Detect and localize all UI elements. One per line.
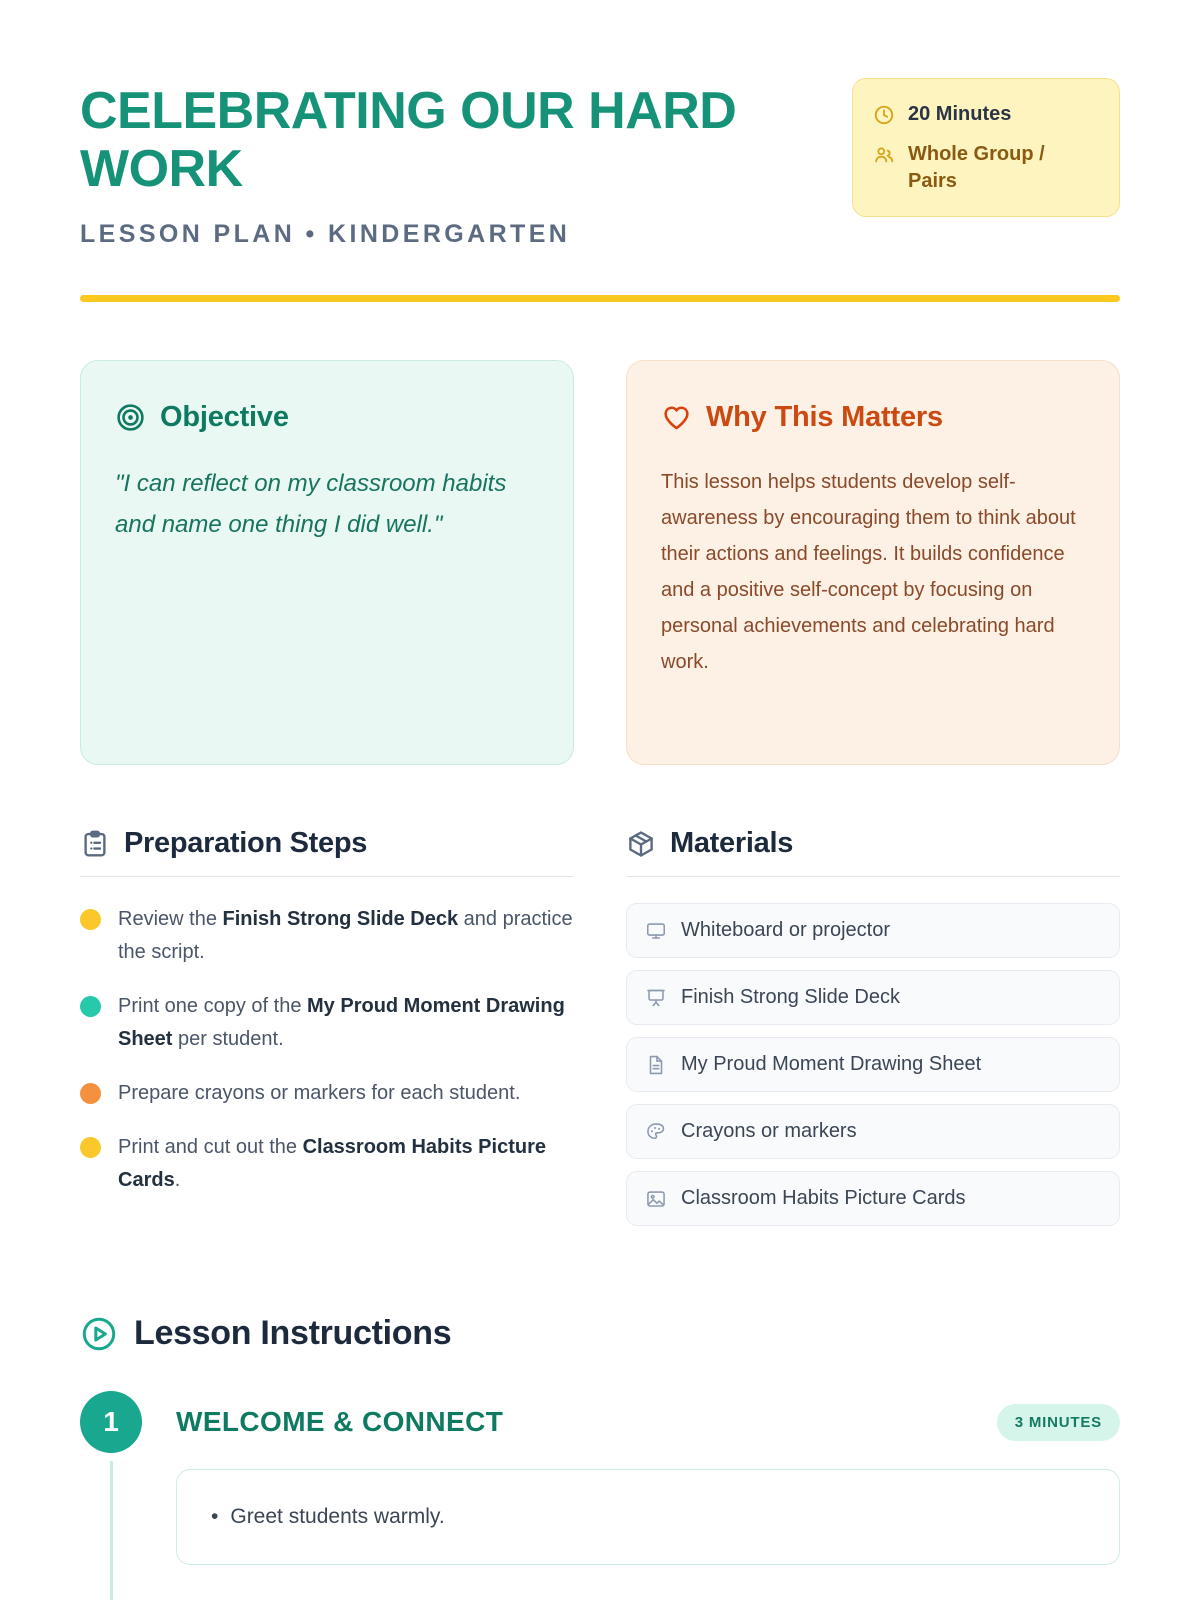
step-bullet-item: •Greet students warmly. bbox=[211, 1500, 1085, 1534]
why-card-header: Why This Matters bbox=[661, 401, 1085, 434]
material-item: Whiteboard or projector bbox=[626, 903, 1120, 958]
page-title: CELEBRATING OUR HARD WORK bbox=[80, 82, 820, 198]
preparation-step-text: Prepare crayons or markers for each stud… bbox=[118, 1077, 520, 1109]
material-label: Finish Strong Slide Deck bbox=[681, 986, 900, 1009]
step-duration-badge: 3 MINUTES bbox=[997, 1404, 1120, 1441]
step-header: WELCOME & CONNECT3 MINUTES bbox=[176, 1391, 1120, 1453]
heart-icon bbox=[661, 402, 692, 433]
preparation-divider bbox=[80, 876, 574, 877]
lesson-meta-card: 20 Minutes Whole Group / Pairs bbox=[852, 78, 1120, 217]
step-bullet-dot bbox=[80, 1083, 101, 1104]
step-bullet-dot bbox=[80, 1137, 101, 1158]
preparation-step: Print one copy of the My Proud Moment Dr… bbox=[80, 990, 574, 1055]
bullet-marker: • bbox=[211, 1500, 218, 1534]
material-item: Finish Strong Slide Deck bbox=[626, 970, 1120, 1025]
lesson-step: 1WELCOME & CONNECT3 MINUTES•Greet studen… bbox=[80, 1391, 1120, 1565]
objective-card-header: Objective bbox=[115, 401, 539, 434]
materials-divider bbox=[626, 876, 1120, 877]
lesson-instructions-header: Lesson Instructions bbox=[80, 1314, 1120, 1353]
material-label: Whiteboard or projector bbox=[681, 919, 890, 942]
objective-card: Objective "I can reflect on my classroom… bbox=[80, 360, 574, 765]
step-content-box: •Greet students warmly. bbox=[176, 1469, 1120, 1565]
material-label: My Proud Moment Drawing Sheet bbox=[681, 1053, 981, 1076]
step-bullet-dot bbox=[80, 996, 101, 1017]
play-circle-icon bbox=[80, 1315, 118, 1353]
why-text: This lesson helps students develop self-… bbox=[661, 464, 1085, 680]
material-item: My Proud Moment Drawing Sheet bbox=[626, 1037, 1120, 1092]
preparation-step: Review the Finish Strong Slide Deck and … bbox=[80, 903, 574, 968]
material-label: Crayons or markers bbox=[681, 1120, 857, 1143]
summary-cards: Objective "I can reflect on my classroom… bbox=[80, 360, 1120, 765]
presentation-icon bbox=[645, 987, 667, 1009]
page-subtitle: LESSON PLAN • KINDERGARTEN bbox=[80, 220, 820, 249]
prep-materials-row: Preparation Steps Review the Finish Stro… bbox=[80, 827, 1120, 1238]
lesson-steps: 1WELCOME & CONNECT3 MINUTES•Greet studen… bbox=[80, 1391, 1120, 1565]
objective-title: Objective bbox=[160, 401, 289, 434]
target-icon bbox=[115, 402, 146, 433]
image-icon bbox=[645, 1188, 667, 1210]
materials-list: Whiteboard or projectorFinish Strong Sli… bbox=[626, 903, 1120, 1226]
palette-icon bbox=[645, 1121, 667, 1143]
lesson-instructions-title: Lesson Instructions bbox=[134, 1314, 451, 1353]
users-icon bbox=[873, 144, 895, 166]
step-timeline-spine bbox=[110, 1461, 113, 1600]
objective-text: "I can reflect on my classroom habits an… bbox=[115, 464, 539, 545]
step-title: WELCOME & CONNECT bbox=[176, 1406, 503, 1438]
materials-title: Materials bbox=[670, 827, 793, 860]
material-item: Crayons or markers bbox=[626, 1104, 1120, 1159]
meta-duration-row: 20 Minutes bbox=[873, 101, 1097, 127]
monitor-icon bbox=[645, 920, 667, 942]
meta-grouping-row: Whole Group / Pairs bbox=[873, 141, 1097, 194]
preparation-step-text: Review the Finish Strong Slide Deck and … bbox=[118, 903, 574, 968]
document-icon bbox=[645, 1054, 667, 1076]
preparation-step: Prepare crayons or markers for each stud… bbox=[80, 1077, 574, 1109]
preparation-title: Preparation Steps bbox=[124, 827, 367, 860]
why-title: Why This Matters bbox=[706, 401, 943, 434]
header-divider bbox=[80, 295, 1120, 302]
material-label: Classroom Habits Picture Cards bbox=[681, 1187, 966, 1210]
preparation-list: Review the Finish Strong Slide Deck and … bbox=[80, 903, 574, 1196]
materials-section: Materials Whiteboard or projectorFinish … bbox=[626, 827, 1120, 1238]
step-number-badge: 1 bbox=[80, 1391, 142, 1453]
header-text-block: CELEBRATING OUR HARD WORK LESSON PLAN • … bbox=[80, 78, 820, 249]
why-this-matters-card: Why This Matters This lesson helps stude… bbox=[626, 360, 1120, 765]
preparation-section: Preparation Steps Review the Finish Stro… bbox=[80, 827, 574, 1238]
lesson-plan-page: CELEBRATING OUR HARD WORK LESSON PLAN • … bbox=[0, 0, 1200, 1600]
materials-header: Materials bbox=[626, 827, 1120, 876]
meta-duration-label: 20 Minutes bbox=[908, 101, 1011, 127]
step-bullet-dot bbox=[80, 909, 101, 930]
clock-icon bbox=[873, 104, 895, 126]
preparation-step-text: Print and cut out the Classroom Habits P… bbox=[118, 1131, 574, 1196]
package-icon bbox=[626, 829, 656, 859]
page-header: CELEBRATING OUR HARD WORK LESSON PLAN • … bbox=[80, 78, 1120, 249]
preparation-step: Print and cut out the Classroom Habits P… bbox=[80, 1131, 574, 1196]
preparation-header: Preparation Steps bbox=[80, 827, 574, 876]
clipboard-list-icon bbox=[80, 829, 110, 859]
meta-grouping-label: Whole Group / Pairs bbox=[908, 141, 1097, 194]
material-item: Classroom Habits Picture Cards bbox=[626, 1171, 1120, 1226]
preparation-step-text: Print one copy of the My Proud Moment Dr… bbox=[118, 990, 574, 1055]
step-bullet-text: Greet students warmly. bbox=[230, 1500, 444, 1534]
